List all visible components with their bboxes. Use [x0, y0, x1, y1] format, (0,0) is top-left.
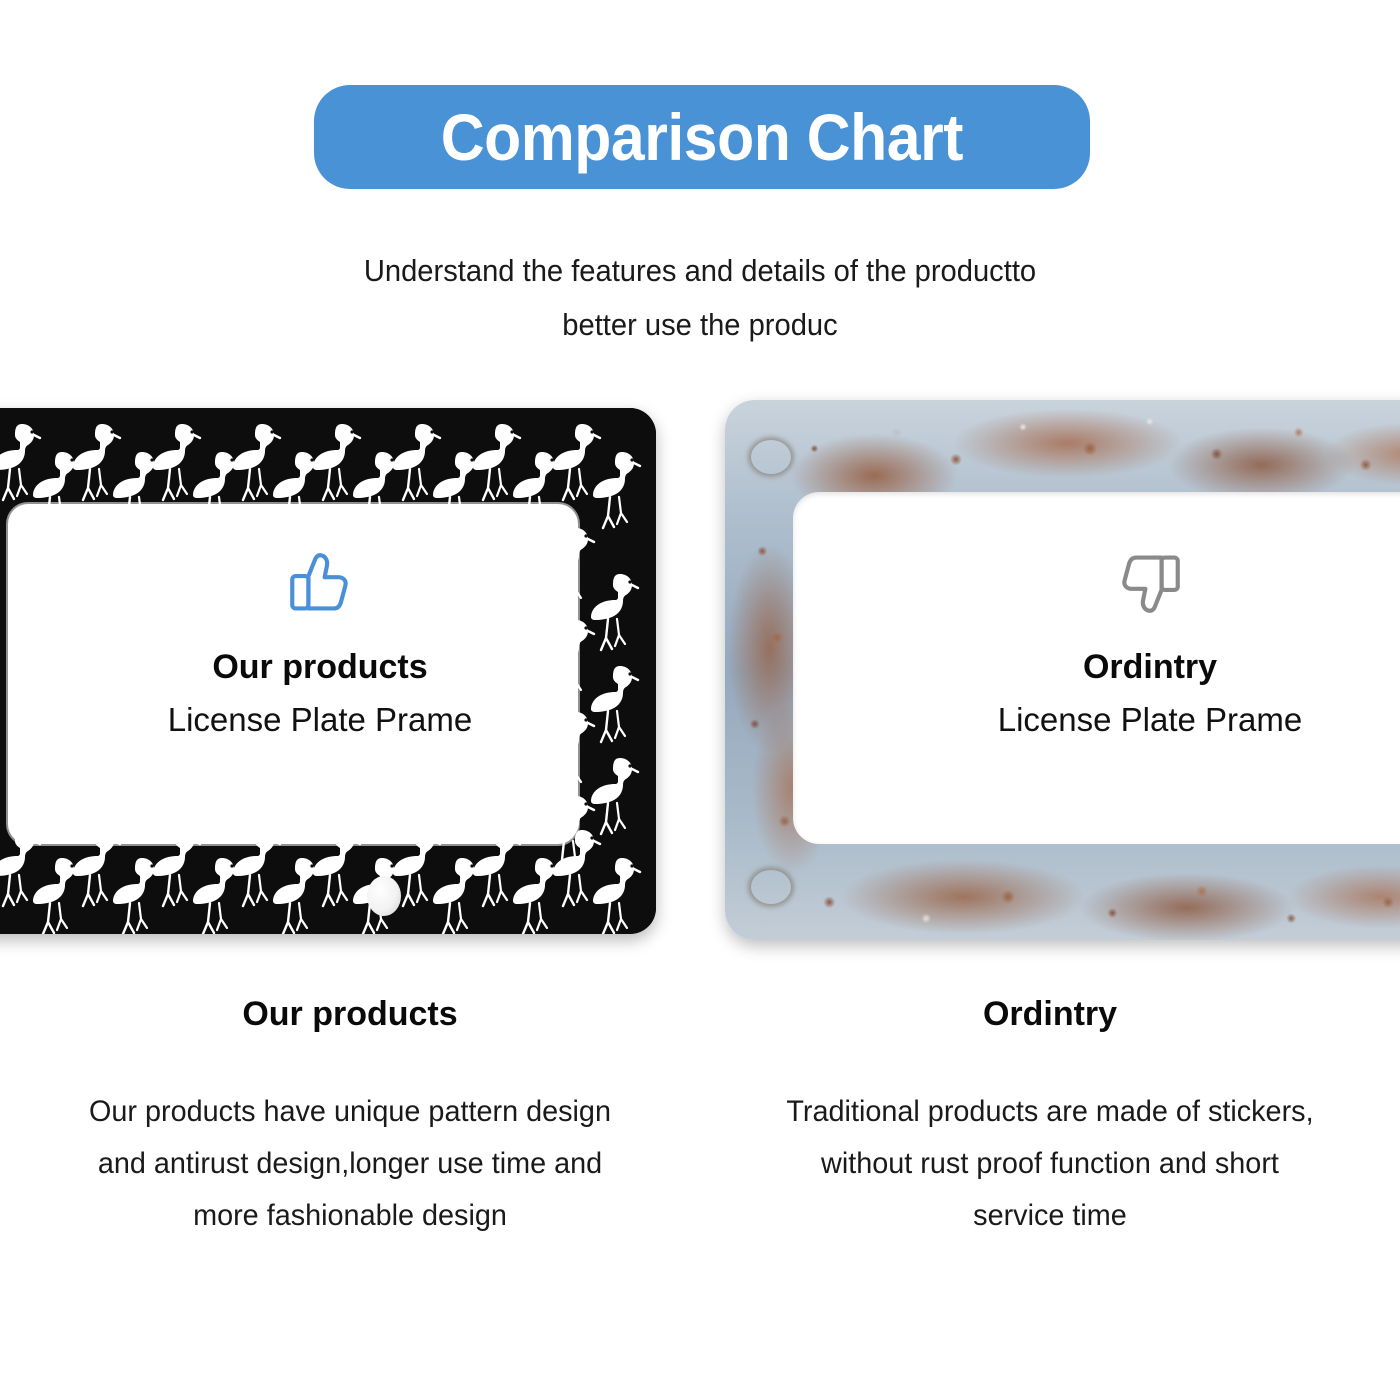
our-desc-line-3: more fashionable design: [54, 1190, 645, 1242]
ordinary-bottom-title: Ordintry: [742, 995, 1358, 1034]
ordinary-desc-line-2: without rust proof function and short: [754, 1138, 1345, 1190]
our-product-subheading: License Plate Prame: [90, 701, 550, 739]
title-banner: Comparison Chart: [314, 85, 1090, 189]
screw-hole-icon: [367, 876, 401, 916]
our-desc-line-1: Our products have unique pattern design: [54, 1086, 645, 1138]
ordinary-product-heading: Ordintry: [920, 648, 1380, 687]
our-products-description: Our products have unique pattern design …: [42, 1086, 658, 1242]
screw-hole-icon: [751, 440, 791, 474]
thumbs-down-icon: [920, 540, 1380, 626]
our-products-bottom-title: Our products: [42, 995, 658, 1034]
screw-hole-icon: [751, 870, 791, 904]
our-product-summary: Our products License Plate Prame: [90, 540, 550, 739]
ordinary-desc-line-3: service time: [754, 1190, 1345, 1242]
comparison-chart-page: Comparison Chart Understand the features…: [0, 0, 1400, 1400]
subtitle-line-1: Understand the features and details of t…: [42, 244, 1358, 298]
our-desc-line-2: and antirust design,longer use time and: [54, 1138, 645, 1190]
ordinary-product-summary: Ordintry License Plate Prame: [920, 540, 1380, 739]
subtitle: Understand the features and details of t…: [0, 244, 1400, 352]
product-image-band: Our products License Plate Prame Ordintr…: [0, 390, 1400, 950]
ordinary-product-subheading: License Plate Prame: [920, 701, 1380, 739]
ordinary-desc-line-1: Traditional products are made of sticker…: [754, 1086, 1345, 1138]
our-product-heading: Our products: [90, 648, 550, 687]
bottom-col-ours: Our products Our products have unique pa…: [0, 995, 700, 1242]
ordinary-description: Traditional products are made of sticker…: [742, 1086, 1358, 1242]
thumbs-up-icon: [90, 540, 550, 626]
subtitle-line-2: better use the produc: [42, 298, 1358, 352]
bottom-col-ordinary: Ordintry Traditional products are made o…: [700, 995, 1400, 1242]
bottom-comparison-row: Our products Our products have unique pa…: [0, 995, 1400, 1242]
page-title: Comparison Chart: [441, 104, 963, 170]
